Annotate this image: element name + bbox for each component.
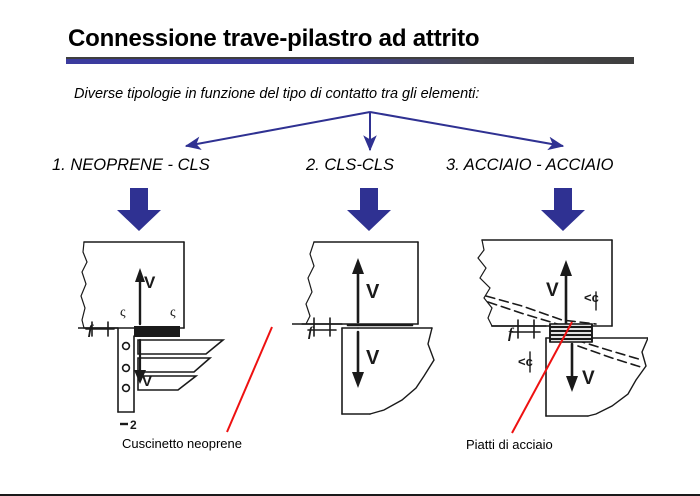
branch-arrow-right [370, 112, 563, 146]
force-arrow-up-head [560, 260, 572, 276]
neoprene-pad [134, 326, 180, 337]
callout-label-steel: Piatti di acciaio [466, 437, 553, 452]
force-label-v-bottom: V [366, 347, 380, 369]
beam-break-line [478, 240, 492, 326]
sketch-note: 2 [130, 418, 137, 432]
force-label-v-bottom: V [582, 368, 595, 389]
friction-label-f: f [308, 325, 314, 340]
bolt-3 [123, 385, 130, 392]
force-label-v-top: V [366, 281, 380, 303]
friction-label-f: f [508, 326, 515, 342]
angle-label-right: ς [170, 305, 176, 320]
sketch-acciaio-acciaio: V V f <c <c [470, 234, 648, 432]
beam-break-line [306, 242, 314, 324]
beam-break-line [81, 242, 87, 328]
corbel-break-line [588, 338, 648, 416]
sketch-cls-cls: V V f [292, 236, 442, 426]
subtitle-text: Diverse tipologie in funzione del tipo d… [74, 86, 479, 102]
title-underline-bar [66, 57, 634, 64]
force-arrow-down-head [566, 376, 578, 392]
block-arrow-down-2 [346, 188, 392, 232]
title-underline-blue [66, 59, 634, 64]
force-label-v-top: V [546, 280, 559, 301]
friction-label-f: f [88, 323, 94, 338]
bolt-2 [123, 365, 130, 372]
force-label-v-top: V [144, 273, 156, 292]
branch-arrow-left [186, 112, 370, 146]
force-arrow-up-head [352, 258, 364, 274]
steel-plates [550, 324, 592, 342]
force-label-v-bottom: V [142, 373, 152, 390]
angle-label-upper: <c [584, 290, 599, 305]
type-label-2: 2. CLS-CLS [306, 156, 394, 175]
page-title: Connessione trave-pilastro ad attrito [68, 25, 479, 53]
angle-label-lower: <c [518, 354, 533, 369]
corbel-break-line [370, 328, 434, 414]
callout-label-neoprene: Cuscinetto neoprene [122, 436, 242, 451]
block-arrow-down-1 [116, 188, 162, 232]
type-label-1: 1. NEOPRENE - CLS [52, 156, 210, 175]
block-arrow-down-3 [540, 188, 586, 232]
slide-canvas: Connessione trave-pilastro ad attrito Di… [0, 0, 700, 496]
corbel-ledge-2 [138, 358, 210, 372]
corbel-ledge-1 [138, 340, 223, 354]
angle-label-left: ς [120, 305, 126, 320]
type-label-3: 3. ACCIAIO - ACCIAIO [446, 156, 613, 175]
bolt-1 [123, 343, 130, 350]
sketch-neoprene-cls: V V f ς ς 2 [78, 236, 258, 436]
force-arrow-down-head [352, 372, 364, 388]
